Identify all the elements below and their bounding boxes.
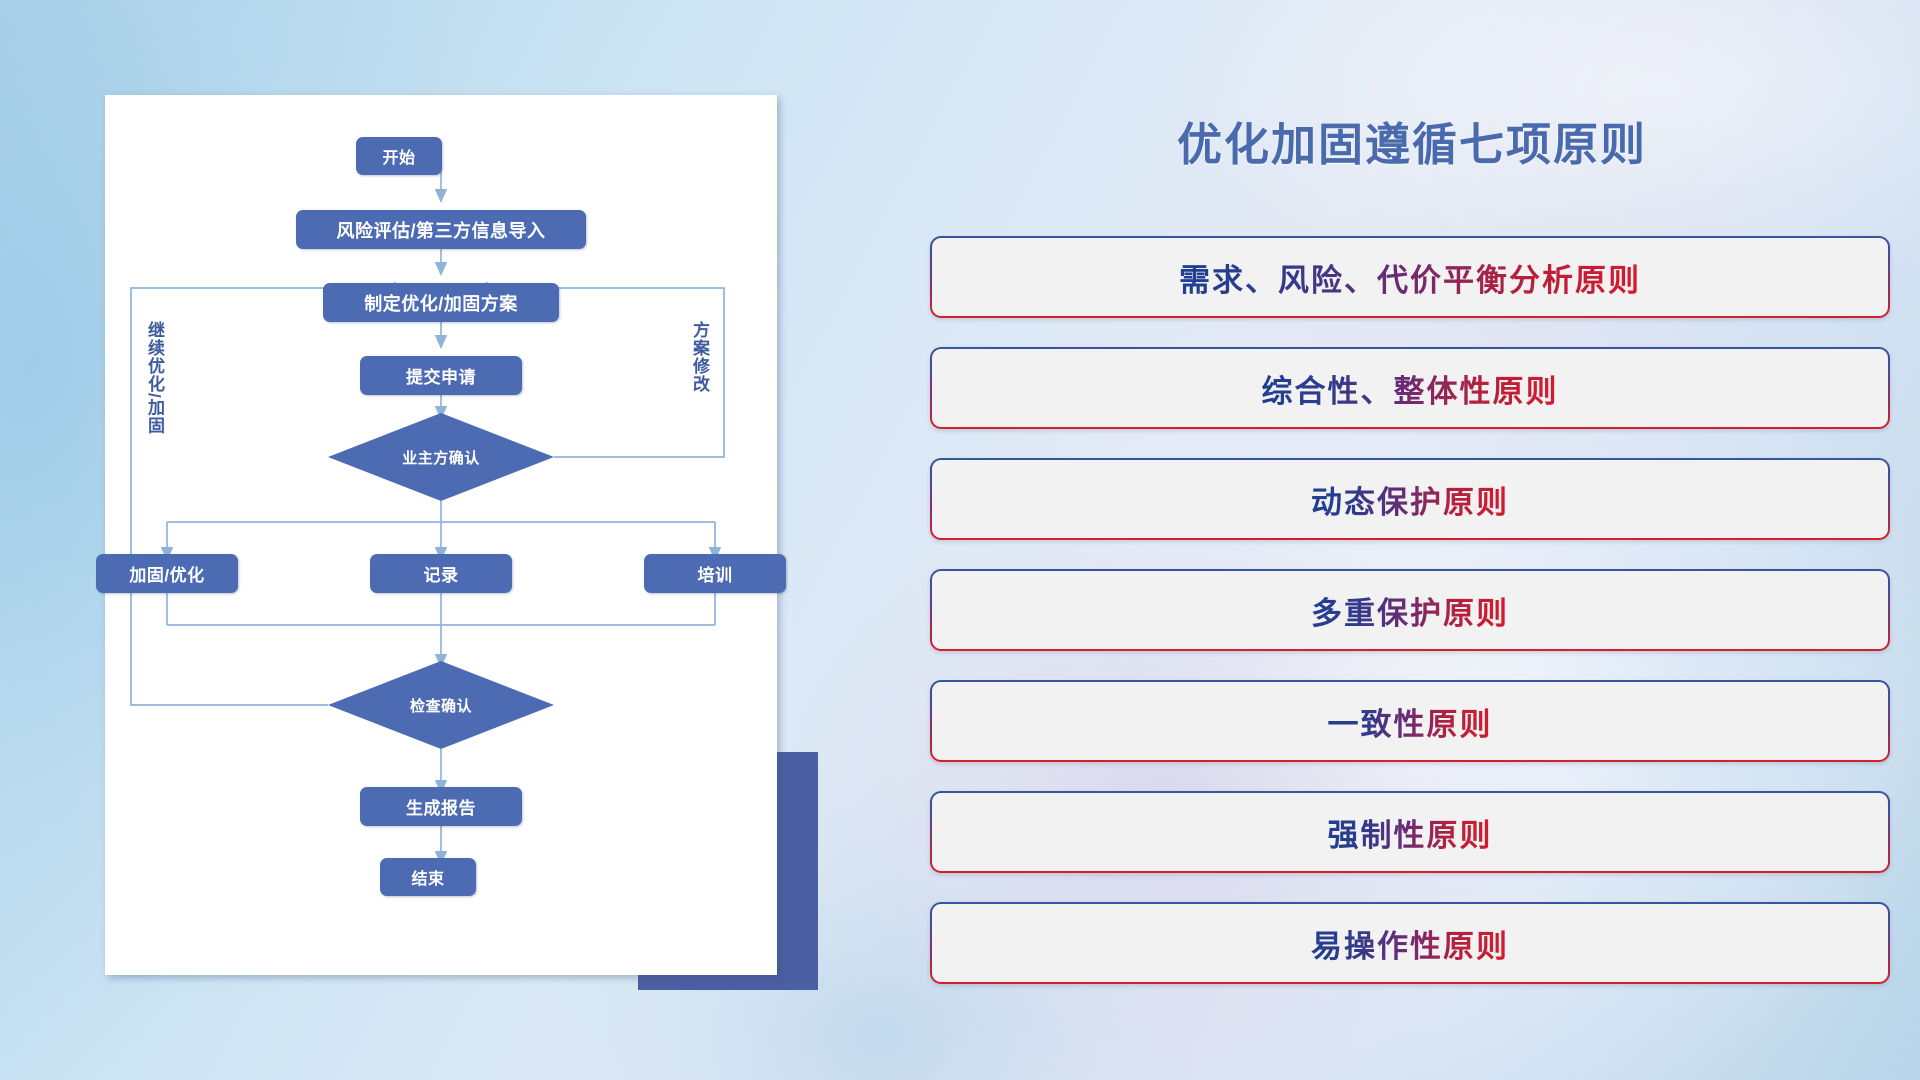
principle-card-inner: 强制性原则	[932, 793, 1888, 871]
flow-node-record[interactable]: 记录	[370, 554, 512, 593]
principle-card-6[interactable]: 强制性原则	[930, 791, 1890, 873]
flow-edge-label-plan-revision: 方案修改	[690, 321, 708, 393]
principle-card-inner: 动态保护原则	[932, 460, 1888, 538]
principle-label: 强制性原则	[1328, 810, 1493, 855]
flow-edge-label-continue-optimize: 继续优化/加固	[145, 321, 163, 435]
flow-node-training[interactable]: 培训	[644, 554, 786, 593]
flowchart-region: 开始 风险评估/第三方信息导入 制定优化/加固方案 提交申请 业主方确认 加固/…	[0, 0, 900, 1080]
flow-node-generate-report[interactable]: 生成报告	[360, 787, 522, 826]
principle-card-5[interactable]: 一致性原则	[930, 680, 1890, 762]
flowchart-canvas: 开始 风险评估/第三方信息导入 制定优化/加固方案 提交申请 业主方确认 加固/…	[105, 95, 777, 975]
principle-label: 一致性原则	[1328, 699, 1493, 744]
principle-label: 动态保护原则	[1311, 477, 1509, 522]
flow-node-start[interactable]: 开始	[356, 137, 442, 175]
principle-card-7[interactable]: 易操作性原则	[930, 902, 1890, 984]
principles-region: 优化加固遵循七项原则 需求、风险、代价平衡分析原则 综合性、整体性原则 动态保护…	[900, 0, 1920, 1080]
flow-node-plan[interactable]: 制定优化/加固方案	[323, 283, 559, 322]
principle-label: 综合性、整体性原则	[1262, 366, 1559, 411]
principle-card-4[interactable]: 多重保护原则	[930, 569, 1890, 651]
principle-card-2[interactable]: 综合性、整体性原则	[930, 347, 1890, 429]
flowchart-panel: 开始 风险评估/第三方信息导入 制定优化/加固方案 提交申请 业主方确认 加固/…	[105, 95, 777, 975]
principle-card-3[interactable]: 动态保护原则	[930, 458, 1890, 540]
page-title: 优化加固遵循七项原则	[952, 108, 1872, 173]
principle-label: 易操作性原则	[1311, 921, 1509, 966]
principle-card-inner: 一致性原则	[932, 682, 1888, 760]
flow-node-inspection-confirm[interactable]: 检查确认	[328, 661, 554, 749]
principle-label: 需求、风险、代价平衡分析原则	[1179, 255, 1641, 300]
principle-card-inner: 易操作性原则	[932, 904, 1888, 982]
flow-node-end[interactable]: 结束	[380, 858, 476, 896]
principles-list: 需求、风险、代价平衡分析原则 综合性、整体性原则 动态保护原则 多重保护原则 一…	[930, 236, 1890, 1013]
flow-node-submit-application[interactable]: 提交申请	[360, 356, 522, 395]
flow-node-reinforce-optimize[interactable]: 加固/优化	[96, 554, 238, 593]
principle-card-inner: 多重保护原则	[932, 571, 1888, 649]
flow-node-risk-assessment[interactable]: 风险评估/第三方信息导入	[296, 210, 586, 249]
principle-card-inner: 综合性、整体性原则	[932, 349, 1888, 427]
flow-node-owner-confirm[interactable]: 业主方确认	[328, 413, 554, 501]
principle-card-inner: 需求、风险、代价平衡分析原则	[932, 238, 1888, 316]
principle-card-1[interactable]: 需求、风险、代价平衡分析原则	[930, 236, 1890, 318]
principle-label: 多重保护原则	[1311, 588, 1509, 633]
